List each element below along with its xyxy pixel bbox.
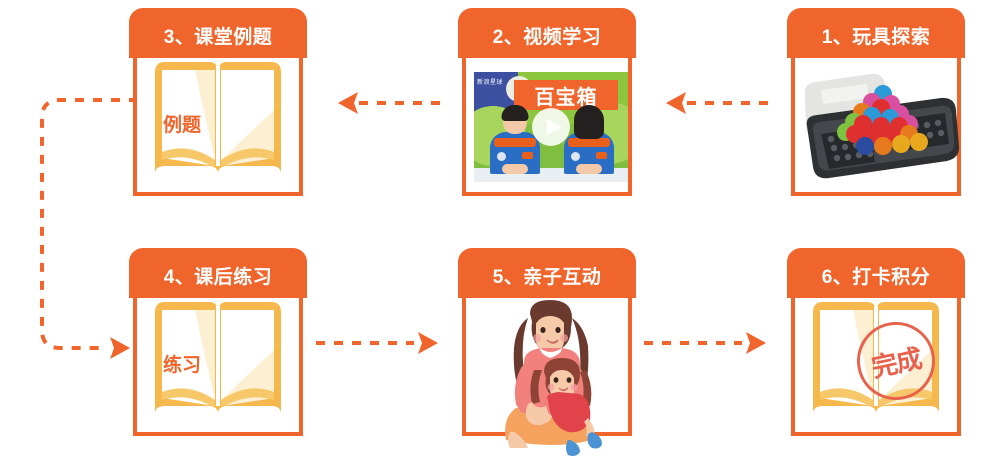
stamp-text: 完成 [868, 338, 925, 385]
step-card-2[interactable]: 2、视频学习 新浪星球 百宝箱 [458, 8, 636, 196]
card-body: 练习 [133, 290, 303, 436]
flow-diagram: 3、课堂例题 [0, 0, 988, 476]
mother-and-child-icon [484, 300, 620, 450]
card-body: 完成 [791, 290, 961, 436]
arrow-5-to-6 [636, 326, 776, 360]
card-body: 新浪星球 百宝箱 [462, 50, 632, 196]
arrow-4-to-5 [308, 326, 448, 360]
arrow-1-to-2 [636, 86, 776, 120]
card-body [791, 50, 961, 196]
card-body: 例题 [133, 50, 303, 196]
card-title: 4、课后练习 [129, 262, 307, 289]
card-title: 6、打卡积分 [787, 262, 965, 289]
step-card-4[interactable]: 4、课后练习 练习 [129, 248, 307, 436]
arrow-2-to-3 [308, 86, 448, 120]
step-card-5[interactable]: 5、亲子互动 [458, 248, 636, 436]
video-presenter-right [562, 108, 616, 174]
card-title: 2、视频学习 [458, 22, 636, 49]
card-title: 1、玩具探索 [787, 22, 965, 49]
book-caption: 例题 [151, 110, 213, 137]
card-title: 5、亲子互动 [458, 262, 636, 289]
book-caption: 练习 [151, 350, 213, 377]
toy-puzzle-box-icon [799, 68, 961, 186]
step-card-1[interactable]: 1、玩具探索 [787, 8, 965, 196]
step-card-3[interactable]: 3、课堂例题 [129, 8, 307, 196]
card-title: 3、课堂例题 [129, 22, 307, 49]
step-card-6[interactable]: 6、打卡积分 [787, 248, 965, 436]
play-icon[interactable] [532, 108, 570, 146]
card-body [462, 290, 632, 436]
video-watermark: 新浪星球 [477, 77, 503, 86]
video-thumbnail[interactable]: 新浪星球 百宝箱 [474, 72, 628, 182]
video-banner: 百宝箱 [514, 80, 618, 110]
